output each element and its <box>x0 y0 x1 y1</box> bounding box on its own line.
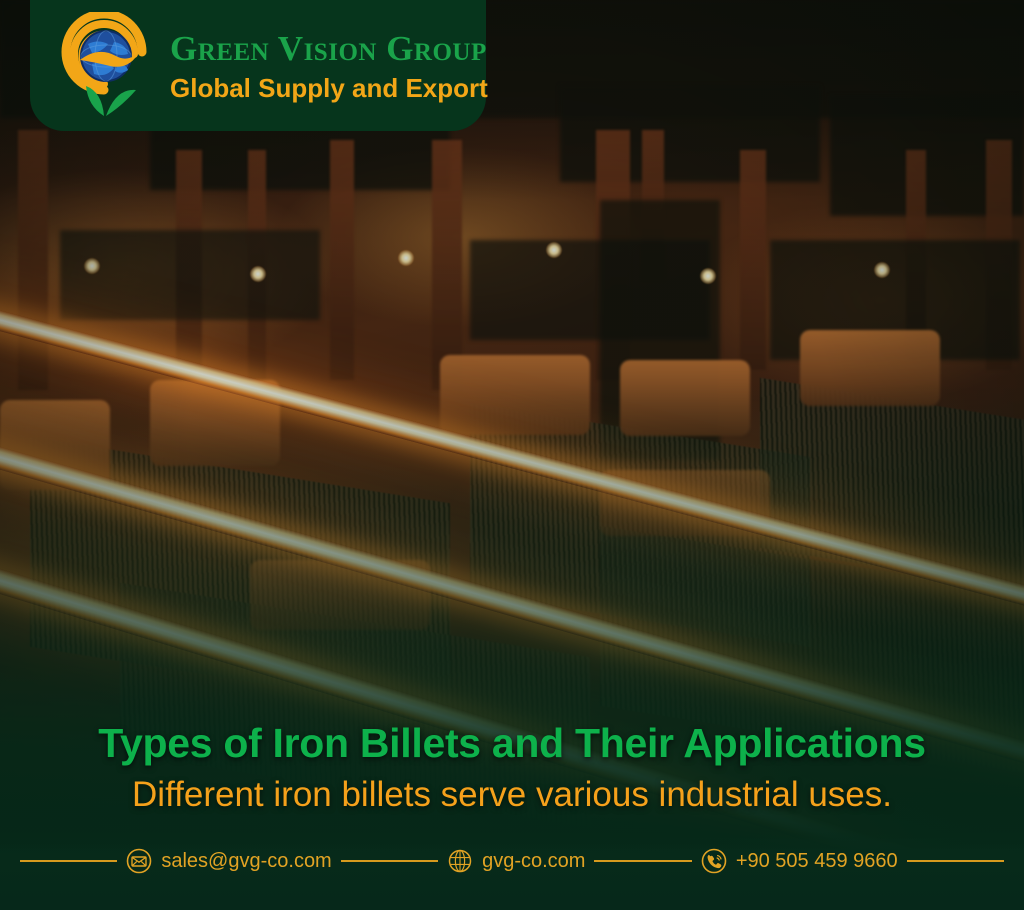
page-title: Types of Iron Billets and Their Applicat… <box>0 722 1024 765</box>
brand-name: Green Vision Group <box>170 31 488 66</box>
page-subtitle: Different iron billets serve various ind… <box>0 776 1024 815</box>
hero-text-block: Types of Iron Billets and Their Applicat… <box>0 722 1024 815</box>
envelope-icon <box>126 848 152 874</box>
brand-tagline: Global Supply and Export <box>170 75 488 101</box>
contact-website[interactable]: gvg-co.com <box>438 848 594 874</box>
contact-email-label: sales@gvg-co.com <box>161 850 331 873</box>
divider-line <box>20 860 117 862</box>
globe-icon <box>447 848 473 874</box>
phone-icon <box>701 848 727 874</box>
divider-line <box>594 860 691 862</box>
divider-line <box>341 860 438 862</box>
green-vision-globe-leaf-logo <box>52 12 156 120</box>
contact-email[interactable]: sales@gvg-co.com <box>117 848 340 874</box>
divider-line <box>907 860 1004 862</box>
brand-header-panel: Green Vision Group Global Supply and Exp… <box>30 0 486 131</box>
contact-phone[interactable]: +90 505 459 9660 <box>692 848 907 874</box>
contact-footer-bar: sales@gvg-co.com gvg-co.com +90 505 459 … <box>0 830 1024 910</box>
contact-website-label: gvg-co.com <box>482 850 585 873</box>
marketing-poster: Green Vision Group Global Supply and Exp… <box>0 0 1024 910</box>
contact-phone-label: +90 505 459 9660 <box>736 850 898 873</box>
